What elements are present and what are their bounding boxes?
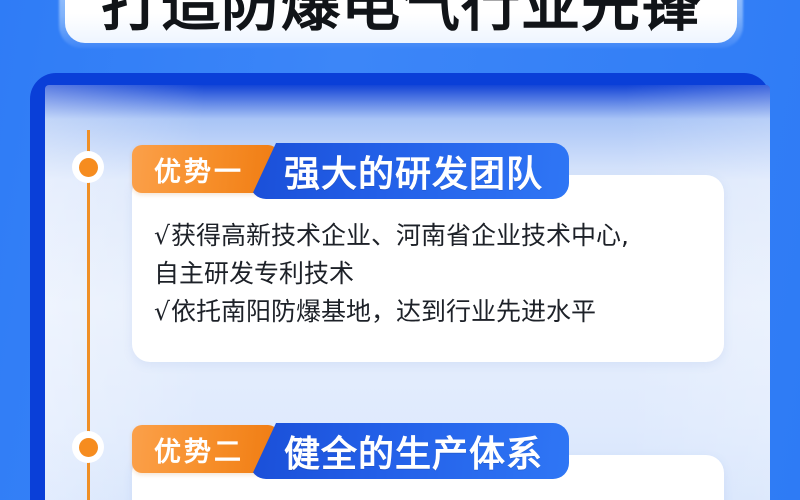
check-mark-icon: √ <box>154 297 171 326</box>
advantage-card-one: √获得高新技术企业、河南省企业技术中心, 自主研发专利技术 √依托南阳防爆基地，… <box>132 175 724 362</box>
advantage-one-line-3-text: 依托南阳防爆基地，达到行业先进水平 <box>171 297 596 326</box>
advantage-two-title-badge: 健全的生产体系 <box>250 423 569 479</box>
advantage-one-title: 强大的研发团队 <box>284 145 543 197</box>
timeline-dot-advantage-one <box>72 151 104 183</box>
advantage-one-index-label: 优势一 <box>154 150 244 189</box>
advantage-one-title-badge: 强大的研发团队 <box>250 143 569 199</box>
advantage-two-title: 健全的生产体系 <box>284 425 543 477</box>
page-title-pill: 打造防爆电气行业先锋 <box>65 0 737 43</box>
advantage-one-line-2: 自主研发专利技术 <box>154 255 698 293</box>
check-mark-icon: √ <box>154 221 171 250</box>
advantage-two-index-label: 优势二 <box>154 430 244 469</box>
advantage-two-index-badge: 优势二 <box>132 425 278 473</box>
timeline-dot-core-icon <box>79 158 98 177</box>
advantage-one-line-3: √依托南阳防爆基地，达到行业先进水平 <box>154 293 698 331</box>
advantage-one-index-badge: 优势一 <box>132 145 278 193</box>
timeline-dot-core-icon <box>79 438 98 457</box>
timeline-dot-advantage-two <box>72 431 104 463</box>
page-title: 打造防爆电气行业先锋 <box>101 0 701 43</box>
advantage-one-line-1: √获得高新技术企业、河南省企业技术中心, <box>154 217 698 255</box>
advantage-one-line-2-text: 自主研发专利技术 <box>154 259 354 288</box>
advantage-one-line-1-text: 获得高新技术企业、河南省企业技术中心, <box>171 221 629 250</box>
